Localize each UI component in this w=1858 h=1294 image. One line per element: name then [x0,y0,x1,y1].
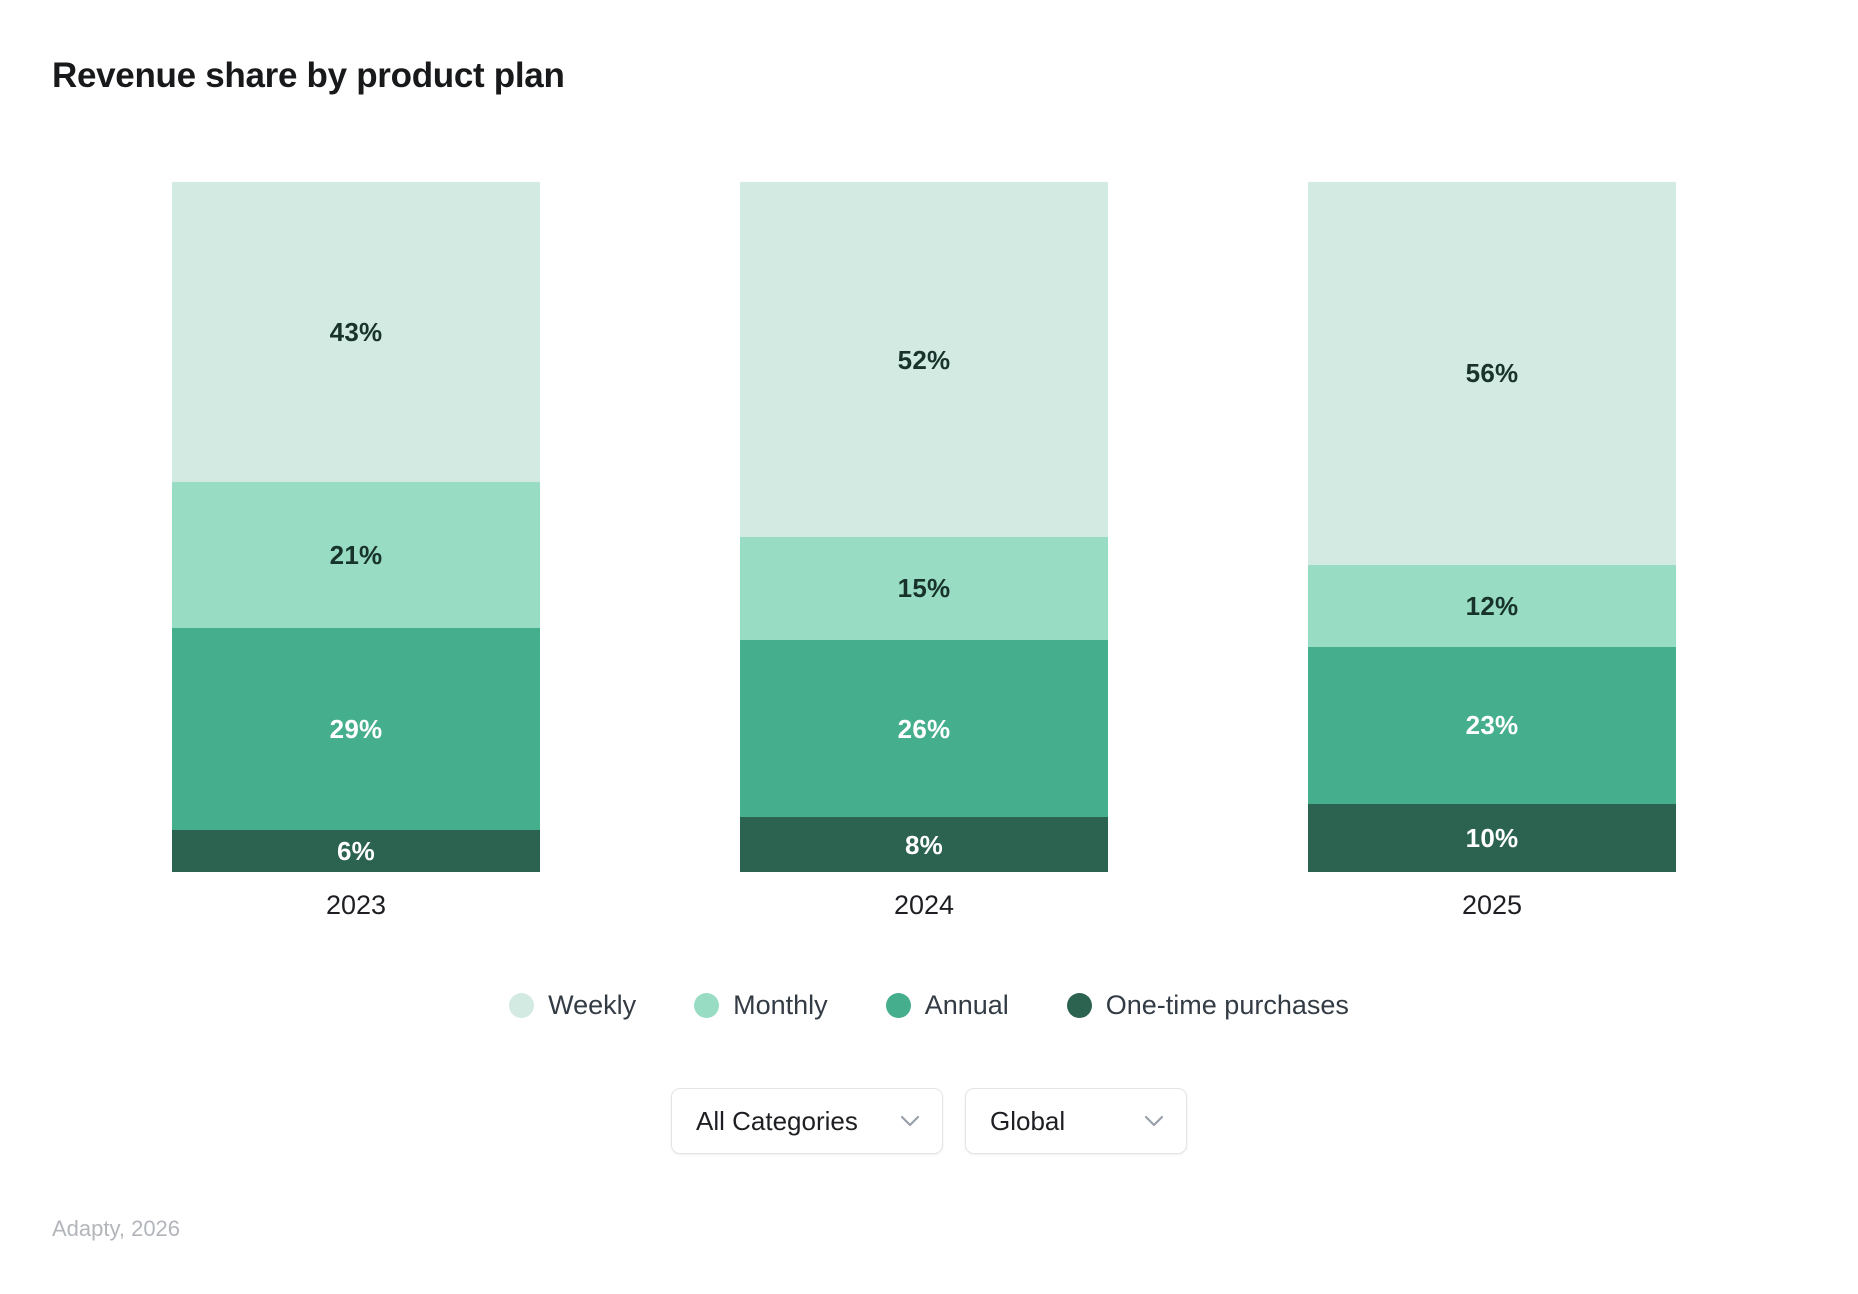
bar-segment-one-time-purchases[interactable]: 10% [1308,804,1676,872]
segment-value-label: 56% [1466,360,1519,386]
legend-item-monthly[interactable]: Monthly [694,992,828,1019]
segment-value-label: 43% [330,319,383,345]
bar-segment-one-time-purchases[interactable]: 8% [740,817,1108,872]
segment-value-label: 23% [1466,712,1519,738]
circle-swatch-icon [1067,993,1092,1018]
bar-stack-2023: 43%21%29%6% [172,182,540,872]
legend-item-label: Annual [925,992,1009,1019]
legend-item-weekly[interactable]: Weekly [509,992,636,1019]
category-label-2023: 2023 [172,890,540,921]
bar-segment-monthly[interactable]: 15% [740,537,1108,639]
footer-attribution: Adapty, 2026 [52,1218,180,1240]
bar-segment-weekly[interactable]: 56% [1308,182,1676,565]
bar-stack-2025: 56%12%23%10% [1308,182,1676,872]
segment-value-label: 15% [898,575,951,601]
filter-controls: All Categories Global [0,1088,1858,1154]
segment-value-label: 26% [898,716,951,742]
segment-value-label: 29% [330,716,383,742]
legend-item-label: One-time purchases [1106,992,1349,1019]
segment-value-label: 8% [905,832,943,858]
legend-item-label: Weekly [548,992,636,1019]
bar-segment-weekly[interactable]: 43% [172,182,540,482]
segment-value-label: 10% [1466,825,1519,851]
region-filter-value: Global [990,1108,1065,1134]
bar-segment-one-time-purchases[interactable]: 6% [172,830,540,872]
circle-swatch-icon [509,993,534,1018]
circle-swatch-icon [886,993,911,1018]
legend-item-one-time-purchases[interactable]: One-time purchases [1067,992,1349,1019]
bar-segment-annual[interactable]: 23% [1308,647,1676,804]
chart-page: Revenue share by product plan 43%21%29%6… [0,0,1858,1294]
page-title: Revenue share by product plan [52,55,565,97]
category-label-2025: 2025 [1308,890,1676,921]
segment-value-label: 21% [330,542,383,568]
legend-item-annual[interactable]: Annual [886,992,1009,1019]
segment-value-label: 52% [898,347,951,373]
category-filter-value: All Categories [696,1108,858,1134]
region-filter-dropdown[interactable]: Global [965,1088,1187,1154]
category-label-2024: 2024 [740,890,1108,921]
bar-segment-annual[interactable]: 26% [740,640,1108,818]
bar-segment-monthly[interactable]: 12% [1308,565,1676,647]
chevron-down-icon [1144,1115,1164,1127]
chevron-down-icon [900,1115,920,1127]
legend-item-label: Monthly [733,992,828,1019]
bar-segment-annual[interactable]: 29% [172,628,540,830]
circle-swatch-icon [694,993,719,1018]
bar-segment-weekly[interactable]: 52% [740,182,1108,537]
plot-area: 43%21%29%6%52%15%26%8%56%12%23%10% [0,182,1858,872]
segment-value-label: 12% [1466,593,1519,619]
segment-value-label: 6% [337,838,375,864]
chart-legend: WeeklyMonthlyAnnualOne-time purchases [0,992,1858,1019]
category-filter-dropdown[interactable]: All Categories [671,1088,943,1154]
bar-stack-2024: 52%15%26%8% [740,182,1108,872]
bar-segment-monthly[interactable]: 21% [172,482,540,628]
